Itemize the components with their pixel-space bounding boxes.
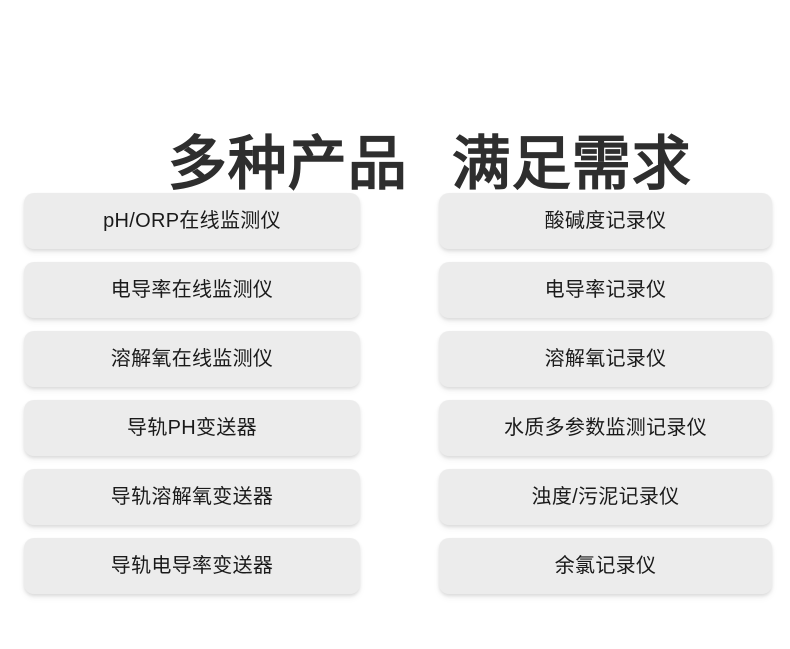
product-button-dissolved-oxygen-recorder[interactable]: 溶解氧记录仪	[439, 331, 772, 387]
product-button-din-rail-conductivity-transmitter[interactable]: 导轨电导率变送器	[24, 538, 360, 594]
product-button-din-rail-dissolved-oxygen-transmitter[interactable]: 导轨溶解氧变送器	[24, 469, 360, 525]
product-button-ph-orp-online-monitor[interactable]: pH/ORP在线监测仪	[24, 193, 360, 249]
product-column-left: pH/ORP在线监测仪 电导率在线监测仪 溶解氧在线监测仪 导轨PH变送器 导轨…	[24, 193, 360, 594]
product-button-multiparameter-water-quality-recorder[interactable]: 水质多参数监测记录仪	[439, 400, 772, 456]
product-button-label: 酸碱度记录仪	[545, 209, 667, 233]
product-grid: pH/ORP在线监测仪 电导率在线监测仪 溶解氧在线监测仪 导轨PH变送器 导轨…	[24, 193, 772, 594]
product-button-label: 水质多参数监测记录仪	[504, 416, 707, 440]
product-catalog-page: 多种产品满足需求 pH/ORP在线监测仪 电导率在线监测仪 溶解氧在线监测仪 导…	[0, 0, 790, 649]
page-title-part-2: 满足需求	[452, 124, 692, 204]
product-button-ph-recorder[interactable]: 酸碱度记录仪	[439, 193, 772, 249]
product-button-label: 电导率在线监测仪	[111, 278, 273, 302]
product-button-label: 浊度/污泥记录仪	[532, 485, 680, 509]
product-button-conductivity-online-monitor[interactable]: 电导率在线监测仪	[24, 262, 360, 318]
product-button-dissolved-oxygen-online-monitor[interactable]: 溶解氧在线监测仪	[24, 331, 360, 387]
product-button-label: 溶解氧记录仪	[545, 347, 667, 371]
product-button-label: 导轨PH变送器	[127, 416, 257, 440]
product-button-label: 溶解氧在线监测仪	[111, 347, 273, 371]
product-button-turbidity-sludge-recorder[interactable]: 浊度/污泥记录仪	[439, 469, 772, 525]
product-button-label: 导轨电导率变送器	[111, 554, 273, 578]
product-button-label: 余氯记录仪	[555, 554, 657, 578]
product-button-din-rail-ph-transmitter[interactable]: 导轨PH变送器	[24, 400, 360, 456]
product-button-residual-chlorine-recorder[interactable]: 余氯记录仪	[439, 538, 772, 594]
product-button-label: pH/ORP在线监测仪	[103, 209, 281, 233]
page-title-part-1: 多种产品	[168, 124, 408, 204]
product-button-label: 电导率记录仪	[545, 278, 667, 302]
product-button-label: 导轨溶解氧变送器	[111, 485, 273, 509]
product-button-conductivity-recorder[interactable]: 电导率记录仪	[439, 262, 772, 318]
product-column-right: 酸碱度记录仪 电导率记录仪 溶解氧记录仪 水质多参数监测记录仪 浊度/污泥记录仪…	[439, 193, 772, 594]
